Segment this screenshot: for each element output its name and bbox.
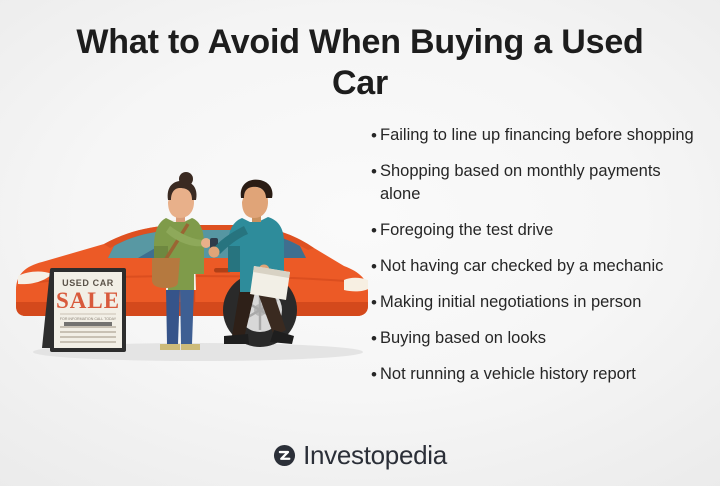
clipboard bbox=[250, 266, 290, 300]
investopedia-circle-swoosh-icon bbox=[273, 444, 296, 467]
list-item-label: Not having car checked by a mechanic bbox=[380, 255, 701, 278]
list-item-label: Making initial negotiations in person bbox=[380, 291, 701, 314]
list-item: • Making initial negotiations in person bbox=[371, 291, 701, 314]
list-item-label: Shopping based on monthly payments alone bbox=[380, 160, 701, 206]
woman-hand bbox=[201, 238, 211, 248]
list-item-label: Failing to line up financing before shop… bbox=[380, 124, 701, 147]
woman-shoe-front bbox=[181, 344, 200, 350]
sign-highlight-bar bbox=[64, 322, 112, 326]
list-item-label: Foregoing the test drive bbox=[380, 219, 701, 242]
list-item: • Foregoing the test drive bbox=[371, 219, 701, 242]
brand-name: Investopedia bbox=[303, 442, 447, 468]
list-item: • Not having car checked by a mechanic bbox=[371, 255, 701, 278]
list-item: • Shopping based on monthly payments alo… bbox=[371, 160, 701, 206]
woman-hair-bun bbox=[179, 172, 193, 186]
woman-leg-front bbox=[180, 288, 194, 344]
man-sweater-shade bbox=[228, 246, 240, 272]
bullet-marker-icon: • bbox=[371, 327, 380, 350]
brand-footer: Investopedia bbox=[0, 442, 720, 468]
avoid-list: • Failing to line up financing before sh… bbox=[371, 124, 701, 399]
list-item: • Buying based on looks bbox=[371, 327, 701, 350]
used-car-dealership-illustration: USED CAR SALE FOR INFORMATION CALL TODAY bbox=[8, 170, 378, 370]
list-item: • Not running a vehicle history report bbox=[371, 363, 701, 386]
bullet-marker-icon: • bbox=[371, 219, 380, 242]
list-item: • Failing to line up financing before sh… bbox=[371, 124, 701, 147]
list-item-label: Buying based on looks bbox=[380, 327, 701, 350]
bullet-marker-icon: • bbox=[371, 363, 380, 386]
sign-line-1: USED CAR bbox=[62, 278, 114, 288]
sign-line-2: SALE bbox=[56, 288, 120, 313]
used-car-sale-sign: USED CAR SALE FOR INFORMATION CALL TODAY bbox=[42, 268, 126, 352]
man-hand-far bbox=[209, 247, 220, 258]
bullet-marker-icon: • bbox=[371, 124, 380, 147]
bullet-marker-icon: • bbox=[371, 291, 380, 314]
list-item-label: Not running a vehicle history report bbox=[380, 363, 701, 386]
car-taillight bbox=[344, 278, 368, 292]
page-title: What to Avoid When Buying a Used Car bbox=[60, 22, 660, 104]
bullet-marker-icon: • bbox=[371, 160, 380, 183]
woman-shoe-back bbox=[160, 344, 180, 350]
sign-line-3: FOR INFORMATION CALL TODAY bbox=[60, 317, 117, 321]
woman-bag bbox=[152, 258, 180, 288]
man-head bbox=[242, 187, 268, 218]
bullet-marker-icon: • bbox=[371, 255, 380, 278]
man-shoe-back bbox=[224, 334, 249, 344]
woman-leg-back bbox=[166, 288, 180, 344]
infographic-canvas: What to Avoid When Buying a Used Car bbox=[0, 0, 720, 486]
